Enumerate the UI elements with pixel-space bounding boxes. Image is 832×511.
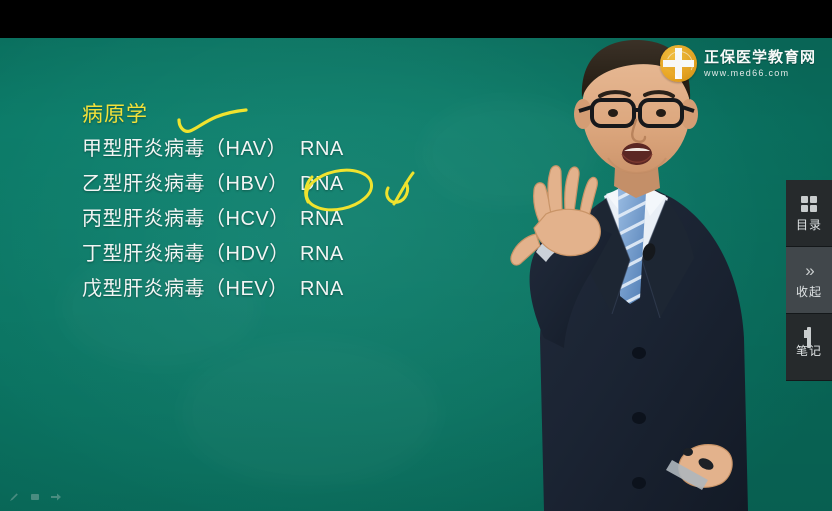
rail-label-contents: 目录 bbox=[796, 219, 822, 231]
nucleic-acid: RNA bbox=[300, 244, 344, 264]
rail-button-notes[interactable]: 笔记 bbox=[786, 314, 832, 381]
virus-name: 甲型肝炎病毒（HAV） bbox=[82, 139, 300, 159]
cross-logo-icon bbox=[660, 45, 697, 82]
logo-name: 正保医学教育网 bbox=[704, 50, 816, 65]
double-chevron-right-icon: » bbox=[805, 262, 812, 279]
pen-icon[interactable] bbox=[8, 491, 20, 503]
virus-name: 乙型肝炎病毒（HBV） bbox=[82, 174, 300, 194]
slide-title: 病原学 bbox=[82, 104, 344, 125]
nucleic-acid: RNA bbox=[300, 279, 344, 299]
slide-row: 甲型肝炎病毒（HAV） RNA bbox=[82, 139, 344, 159]
rail-button-contents[interactable]: 目录 bbox=[786, 180, 832, 247]
letterbox-top-bar bbox=[0, 0, 832, 38]
grid-icon bbox=[801, 196, 817, 212]
slide-content: 病原学 甲型肝炎病毒（HAV） RNA 乙型肝炎病毒（HBV） DNA 丙型肝炎… bbox=[82, 104, 344, 314]
arrow-right-icon[interactable] bbox=[50, 491, 62, 503]
slide-row: 丙型肝炎病毒（HCV） RNA bbox=[82, 209, 344, 229]
rail-label-collapse: 收起 bbox=[796, 286, 822, 298]
nucleic-acid: RNA bbox=[300, 209, 344, 229]
virus-name: 戊型肝炎病毒（HEV） bbox=[82, 279, 300, 299]
mini-toolbar bbox=[8, 491, 62, 503]
video-player-screen: 病原学 甲型肝炎病毒（HAV） RNA 乙型肝炎病毒（HBV） DNA 丙型肝炎… bbox=[0, 0, 832, 511]
side-tool-rail: 目录 » 收起 笔记 bbox=[786, 180, 832, 381]
slide-row: 戊型肝炎病毒（HEV） RNA bbox=[82, 279, 344, 299]
virus-name: 丁型肝炎病毒（HDV） bbox=[82, 244, 300, 264]
rail-button-collapse[interactable]: » 收起 bbox=[786, 247, 832, 314]
nucleic-acid: DNA bbox=[300, 174, 344, 194]
stop-icon[interactable] bbox=[29, 491, 41, 503]
slide-row: 丁型肝炎病毒（HDV） RNA bbox=[82, 244, 344, 264]
slide-row: 乙型肝炎病毒（HBV） DNA bbox=[82, 174, 344, 194]
site-logo: 正保医学教育网 www.med66.com bbox=[660, 45, 816, 82]
nucleic-acid: RNA bbox=[300, 139, 344, 159]
logo-url: www.med66.com bbox=[704, 69, 816, 78]
virus-name: 丙型肝炎病毒（HCV） bbox=[82, 209, 300, 229]
